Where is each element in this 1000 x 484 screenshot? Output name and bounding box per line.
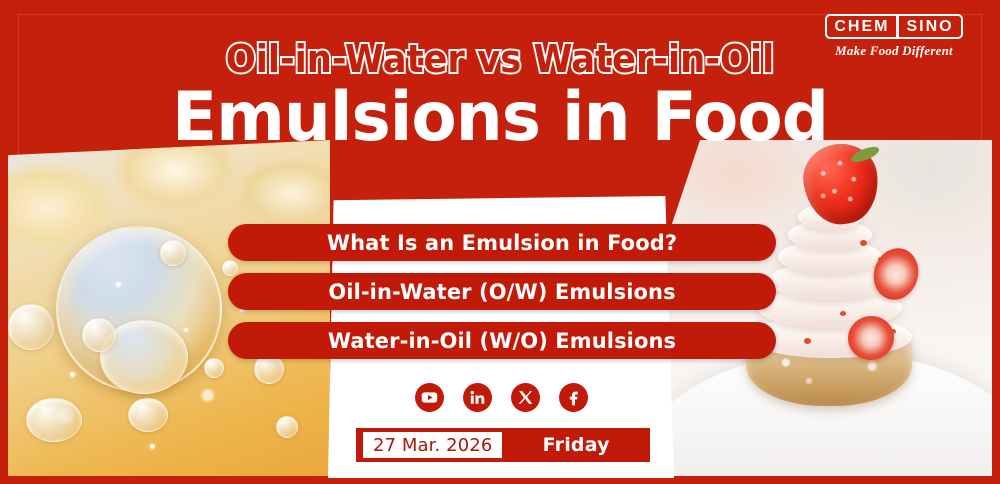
highlight-sparkle [184,328,188,332]
brand-logo[interactable]: CHEM SINO Make Food Different [814,14,974,59]
weekday-label: Friday [502,434,650,456]
oil-droplet [26,398,82,442]
facebook-icon[interactable] [559,383,588,412]
topic-item-label: Water-in-Oil (W/O) Emulsions [328,329,676,353]
topic-item-2[interactable]: Oil-in-Water (O/W) Emulsions [228,273,776,310]
berry-crumb [890,329,896,334]
oil-droplet [204,358,224,378]
oil-droplet [8,304,54,350]
logo-mark: CHEM SINO [825,14,962,39]
highlight-sparkle [150,444,155,449]
youtube-icon[interactable] [415,383,444,412]
x-twitter-icon[interactable] [511,383,540,412]
highlight-sparkle [70,372,75,377]
topic-item-3[interactable]: Water-in-Oil (W/O) Emulsions [228,322,776,359]
date-box: 27 Mar. 2026 [363,432,502,458]
topic-item-1[interactable]: What Is an Emulsion in Food? [228,224,776,261]
highlight-sparkle [116,282,121,287]
topic-item-label: What Is an Emulsion in Food? [327,231,677,255]
brand-tagline: Make Food Different [814,43,974,59]
berry-crumb [878,257,884,262]
topic-list: What Is an Emulsion in Food? Oil-in-Wate… [228,224,776,371]
berry-crumb [804,338,811,344]
date-bar: 27 Mar. 2026 Friday [356,428,650,462]
oil-droplet [128,398,168,432]
logo-text-chem: CHEM [827,16,896,37]
oil-droplet [160,240,186,266]
logo-text-sino: SINO [896,16,960,37]
linkedin-icon[interactable] [463,383,492,412]
main-oil-droplet [56,226,222,392]
berry-crumb [860,240,867,246]
berry-crumb [840,311,846,316]
publish-date: 27 Mar. 2026 [373,435,492,456]
oil-droplet [276,416,298,438]
social-links [328,383,674,412]
topic-item-label: Oil-in-Water (O/W) Emulsions [328,280,675,304]
oil-droplet [82,318,116,352]
poster-canvas: CHEM SINO Make Food Different Oil-in-Wat… [0,0,1000,484]
